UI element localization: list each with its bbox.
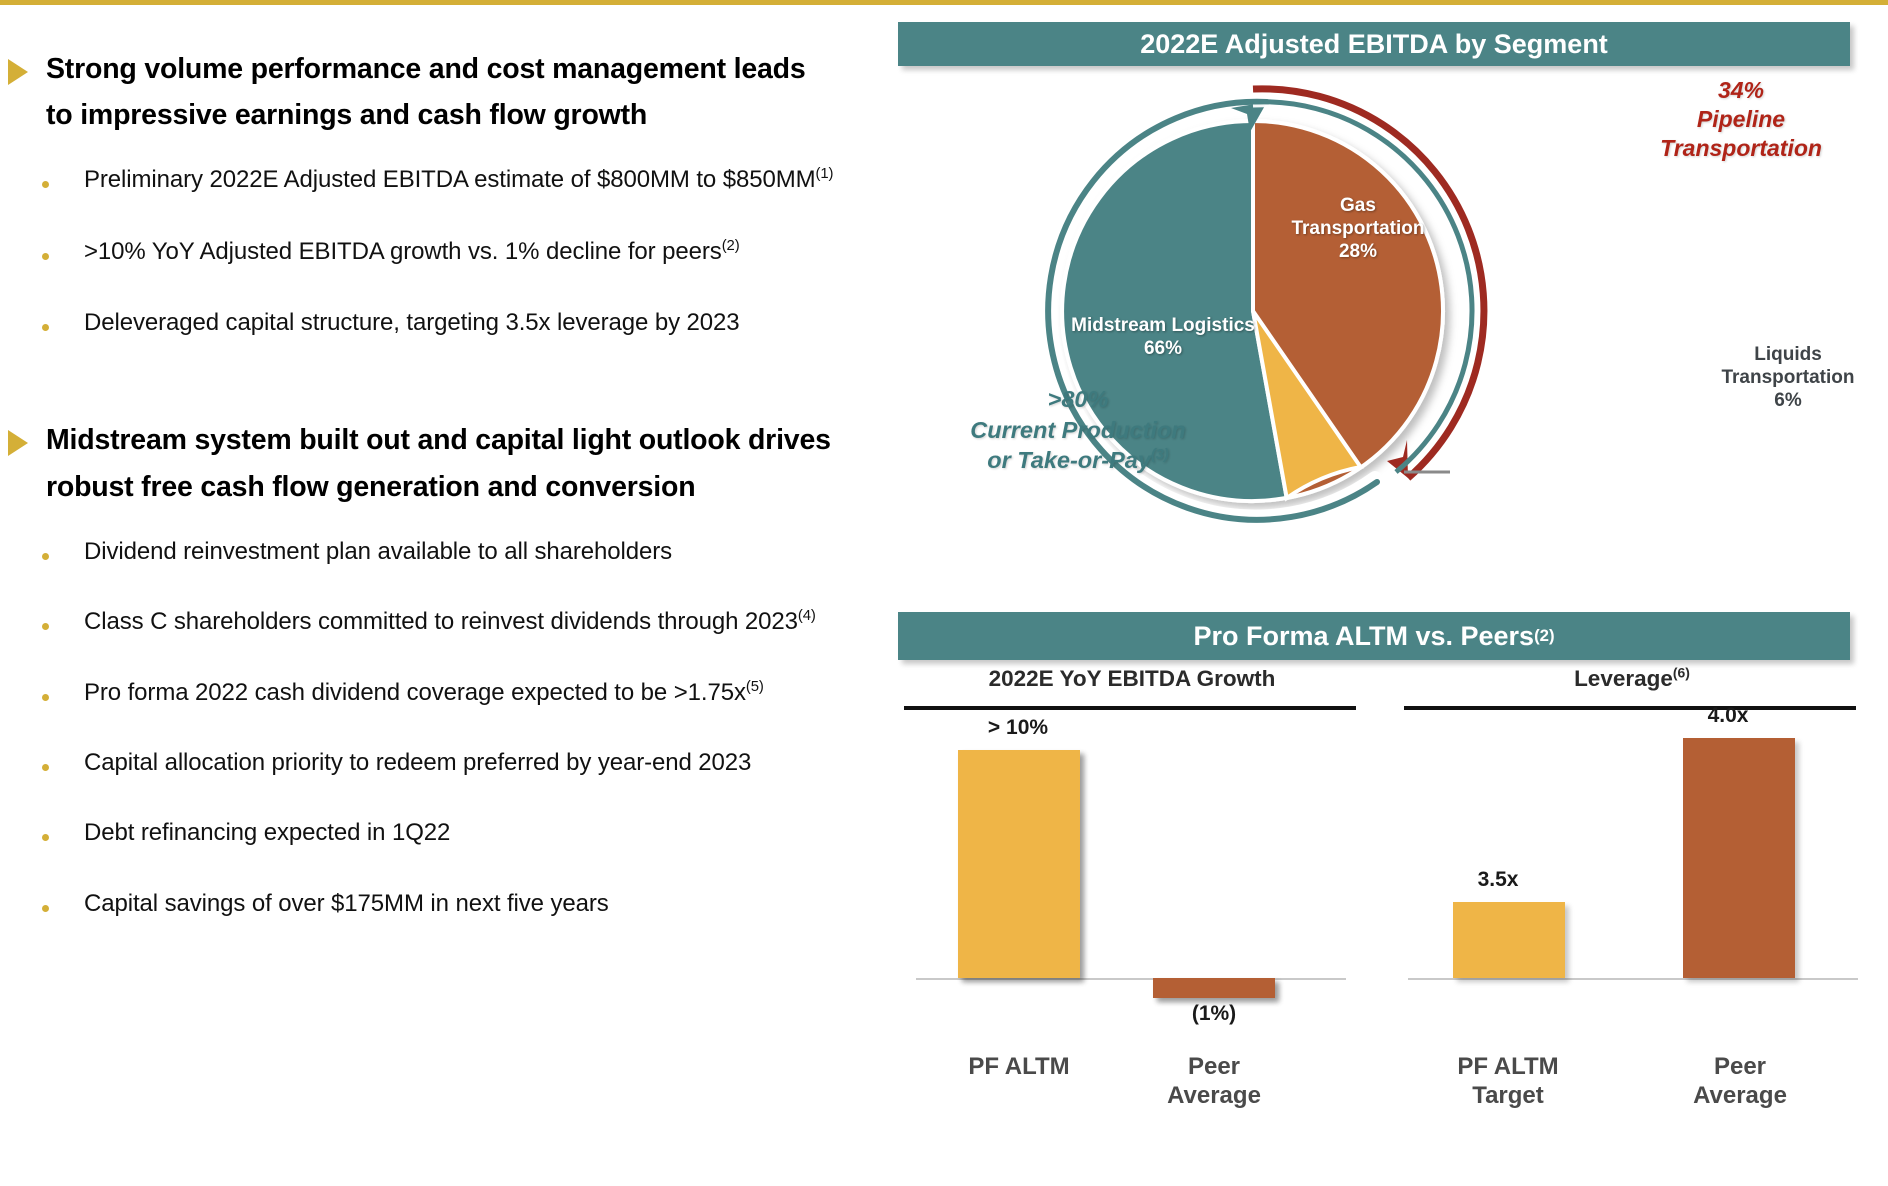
bullet-body: Capital savings of over $175MM in next f… [84, 890, 609, 917]
bullet-text: Deleveraged capital structure, targeting… [84, 307, 740, 339]
footnote-ref: (4) [798, 608, 816, 624]
bullet-text: Capital savings of over $175MM in next f… [84, 888, 609, 920]
list-item: Deleveraged capital structure, targeting… [0, 307, 900, 339]
pie-label-midstream-name: Midstream Logistics [1048, 314, 1278, 337]
leverage-chart-title-text: Leverage [1574, 666, 1673, 691]
bullet-text: Class C shareholders committed to reinve… [84, 606, 816, 638]
content-section-1: Strong volume performance and cost manag… [0, 46, 900, 339]
content-section-2: Midstream system built out and capital l… [0, 417, 900, 920]
dot-bullet-icon [42, 181, 49, 188]
list-item: Dividend reinvestment plan available to … [0, 536, 900, 568]
annotation-pipeline-transportation: 34% Pipeline Transportation [1598, 76, 1884, 162]
bars-panel-title: Pro Forma ALTM vs. Peers [1193, 621, 1534, 652]
growth-cat1-line1: PF ALTM [929, 1052, 1109, 1081]
growth-value-peer-average: (1%) [1124, 1002, 1304, 1026]
bullet-body: Debt refinancing expected in 1Q22 [84, 819, 450, 846]
bullet-text: Debt refinancing expected in 1Q22 [84, 817, 450, 849]
list-item: Pro forma 2022 cash dividend coverage ex… [0, 677, 900, 709]
footnote-ref: (2) [722, 238, 740, 254]
footnote-ref: (3) [1151, 447, 1169, 463]
left-content-column: Strong volume performance and cost manag… [0, 18, 900, 1168]
section-2-headline: Midstream system built out and capital l… [46, 417, 836, 509]
pie-label-midstream-pct: 66% [1048, 337, 1278, 360]
pie-label-midstream: Midstream Logistics 66% [1048, 314, 1278, 360]
leverage-bar-chart: 3.5x 4.0x [1398, 720, 1868, 980]
section-1-headline: Strong volume performance and cost manag… [46, 46, 836, 138]
pie-label-liquids-transportation: Liquids Transportation 6% [1688, 343, 1888, 413]
slide-canvas: Strong volume performance and cost manag… [0, 0, 1888, 1186]
top-accent-rule [0, 0, 1888, 5]
dot-bullet-icon [42, 623, 49, 630]
pipeline-line1: Pipeline [1598, 105, 1884, 134]
takeorpay-line1: Current Production [878, 415, 1278, 446]
pie-chart-area: Midstream Logistics 66% Gas Transportati… [898, 66, 1888, 586]
growth-category-peer-average: Peer Average [1124, 1052, 1304, 1111]
growth-bar-pf-altm-fill [958, 750, 1080, 978]
dot-bullet-icon [42, 764, 49, 771]
leverage-cat2-line1: Peer [1650, 1052, 1830, 1081]
bullet-text: Capital allocation priority to redeem pr… [84, 747, 751, 779]
dot-bullet-icon [42, 834, 49, 841]
list-item: Capital savings of over $175MM in next f… [0, 888, 900, 920]
dot-bullet-icon [42, 905, 49, 912]
liquids-line2: Transportation [1688, 366, 1888, 389]
leverage-axis-baseline [1408, 978, 1858, 980]
bullet-body: Pro forma 2022 cash dividend coverage ex… [84, 679, 746, 706]
triangle-bullet-icon [8, 430, 28, 456]
growth-value-pf-altm: > 10% [928, 716, 1108, 740]
leverage-bar-pf-altm-target [1453, 902, 1565, 978]
list-item: Class C shareholders committed to reinve… [0, 606, 900, 638]
leverage-category-pf-altm-target: PF ALTM Target [1418, 1052, 1598, 1111]
footnote-ref: (5) [746, 679, 764, 695]
section-1-headline-row: Strong volume performance and cost manag… [0, 46, 900, 138]
pipeline-line2: Transportation [1598, 134, 1884, 163]
leverage-value-peer-average: 4.0x [1648, 704, 1808, 728]
takeorpay-line2: or Take-or-Pay [987, 447, 1151, 473]
leverage-value-pf-altm-target: 3.5x [1418, 868, 1578, 892]
pipeline-pct: 34% [1598, 76, 1884, 105]
section-1-bullet-list: Preliminary 2022E Adjusted EBITDA estima… [0, 164, 900, 339]
leverage-chart-title: Leverage(6) [1398, 666, 1866, 692]
leverage-cat1-line2: Target [1418, 1081, 1598, 1110]
bullet-body: Preliminary 2022E Adjusted EBITDA estima… [84, 166, 815, 193]
growth-cat2-line1: Peer [1124, 1052, 1304, 1081]
triangle-bullet-icon [8, 59, 28, 85]
pie-label-gas-transportation: Gas Transportation 28% [1268, 194, 1448, 264]
takeorpay-pct: >80% [878, 384, 1278, 415]
footnote-ref: (6) [1673, 665, 1690, 681]
growth-chart-rule [904, 706, 1356, 710]
liquids-pct: 6% [1688, 389, 1888, 412]
bullet-text: >10% YoY Adjusted EBITDA growth vs. 1% d… [84, 236, 740, 268]
dot-bullet-icon [42, 253, 49, 260]
section-2-bullet-list: Dividend reinvestment plan available to … [0, 536, 900, 920]
growth-bar-chart: > 10% (1%) [898, 720, 1368, 980]
dot-bullet-icon [42, 694, 49, 701]
bar-charts-area: 2022E YoY EBITDA Growth Leverage(6) > 10… [898, 660, 1888, 1186]
footnote-ref: (1) [815, 166, 833, 182]
bullet-text: Preliminary 2022E Adjusted EBITDA estima… [84, 164, 833, 196]
bullet-body: Deleveraged capital structure, targeting… [84, 309, 740, 336]
list-item: >10% YoY Adjusted EBITDA growth vs. 1% d… [0, 236, 900, 268]
liquids-line1: Liquids [1688, 343, 1888, 366]
bars-panel-title-bar: Pro Forma ALTM vs. Peers(2) [898, 612, 1850, 660]
bullet-body: Dividend reinvestment plan available to … [84, 538, 672, 565]
section-2-headline-row: Midstream system built out and capital l… [0, 417, 900, 509]
growth-chart-title: 2022E YoY EBITDA Growth [898, 666, 1366, 692]
pie-panel-title-bar: 2022E Adjusted EBITDA by Segment [898, 22, 1850, 66]
list-item: Debt refinancing expected in 1Q22 [0, 817, 900, 849]
leverage-bar-peer-average [1683, 738, 1795, 978]
growth-chart-title-text: 2022E YoY EBITDA Growth [989, 666, 1276, 691]
bullet-text: Pro forma 2022 cash dividend coverage ex… [84, 677, 764, 709]
growth-axis-baseline [916, 978, 1346, 980]
leverage-cat2-line2: Average [1650, 1081, 1830, 1110]
dot-bullet-icon [42, 324, 49, 331]
list-item: Capital allocation priority to redeem pr… [0, 747, 900, 779]
dot-bullet-icon [42, 553, 49, 560]
bullet-body: >10% YoY Adjusted EBITDA growth vs. 1% d… [84, 238, 722, 265]
bullet-text: Dividend reinvestment plan available to … [84, 536, 672, 568]
annotation-take-or-pay: >80% Current Production or Take-or-Pay(3… [878, 384, 1278, 476]
bullet-body: Class C shareholders committed to reinve… [84, 608, 798, 635]
takeorpay-line2-wrap: or Take-or-Pay(3) [878, 445, 1278, 476]
pie-label-gas-line1: Gas [1268, 194, 1448, 217]
pie-label-gas-pct: 28% [1268, 240, 1448, 263]
growth-bar-peer-average [1153, 978, 1275, 998]
bullet-body: Capital allocation priority to redeem pr… [84, 749, 751, 776]
pie-panel-title: 2022E Adjusted EBITDA by Segment [1140, 29, 1608, 60]
list-item: Preliminary 2022E Adjusted EBITDA estima… [0, 164, 900, 196]
leverage-cat1-line1: PF ALTM [1418, 1052, 1598, 1081]
growth-category-pf-altm: PF ALTM [929, 1052, 1109, 1081]
growth-cat2-line2: Average [1124, 1081, 1304, 1110]
leverage-category-peer-average: Peer Average [1650, 1052, 1830, 1111]
pie-label-gas-line2: Transportation [1268, 217, 1448, 240]
